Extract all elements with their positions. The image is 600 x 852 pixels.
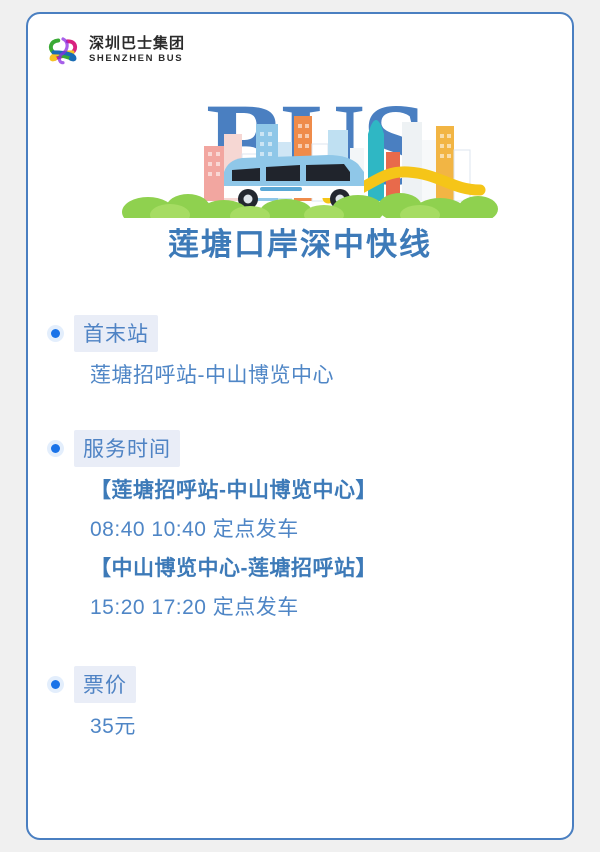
bullet-icon	[42, 444, 68, 453]
section-service-time: 服务时间 【莲塘招呼站-中山博览中心】 08:40 10:40 定点发车 【中山…	[28, 429, 572, 627]
brand-text-block: 深圳巴士集团 SHENZHEN BUS	[89, 36, 185, 64]
direction-outbound-label: 【莲塘招呼站-中山博览中心】	[90, 471, 572, 510]
hero-illustration: B U S	[28, 86, 572, 218]
section-label-terminals: 首末站	[74, 315, 158, 352]
page-root: 深圳巴士集团 SHENZHEN BUS B U S	[0, 0, 600, 852]
section-fare: 票价 35元	[28, 665, 572, 746]
fare-amount: 35元	[90, 707, 572, 746]
direction-inbound-label: 【中山博览中心-莲塘招呼站】	[90, 549, 572, 588]
section-label-service-time: 服务时间	[74, 430, 180, 467]
section-header: 服务时间	[28, 429, 572, 467]
brand-name-cn: 深圳巴士集团	[89, 36, 185, 51]
departure-times-outbound: 08:40 10:40 定点发车	[90, 510, 572, 549]
section-body: 35元	[28, 703, 572, 746]
bullet-icon	[42, 329, 68, 338]
info-sections: 首末站 莲塘招呼站-中山博览中心 服务时间 【莲塘招呼站-中山博览中心】 08:…	[28, 314, 572, 750]
bullet-icon	[42, 680, 68, 689]
brand-logo: 深圳巴士集团 SHENZHEN BUS	[44, 31, 185, 69]
brand-name-en: SHENZHEN BUS	[89, 54, 185, 64]
terminal-route-line: 莲塘招呼站-中山博览中心	[90, 356, 572, 395]
departure-times-inbound: 15:20 17:20 定点发车	[90, 588, 572, 627]
city-skyline-with-bus-illustration-icon: B U S	[28, 86, 572, 218]
shenzhen-bus-loop-emblem-icon	[44, 31, 82, 69]
route-title: 莲塘口岸深中快线	[28, 219, 572, 264]
section-header: 首末站	[28, 314, 572, 352]
section-header: 票价	[28, 665, 572, 703]
section-body: 【莲塘招呼站-中山博览中心】 08:40 10:40 定点发车 【中山博览中心-…	[28, 467, 572, 627]
poster-card: 深圳巴士集团 SHENZHEN BUS B U S	[26, 12, 574, 840]
section-label-fare: 票价	[74, 666, 136, 703]
section-body: 莲塘招呼站-中山博览中心	[28, 352, 572, 395]
section-terminals: 首末站 莲塘招呼站-中山博览中心	[28, 314, 572, 395]
